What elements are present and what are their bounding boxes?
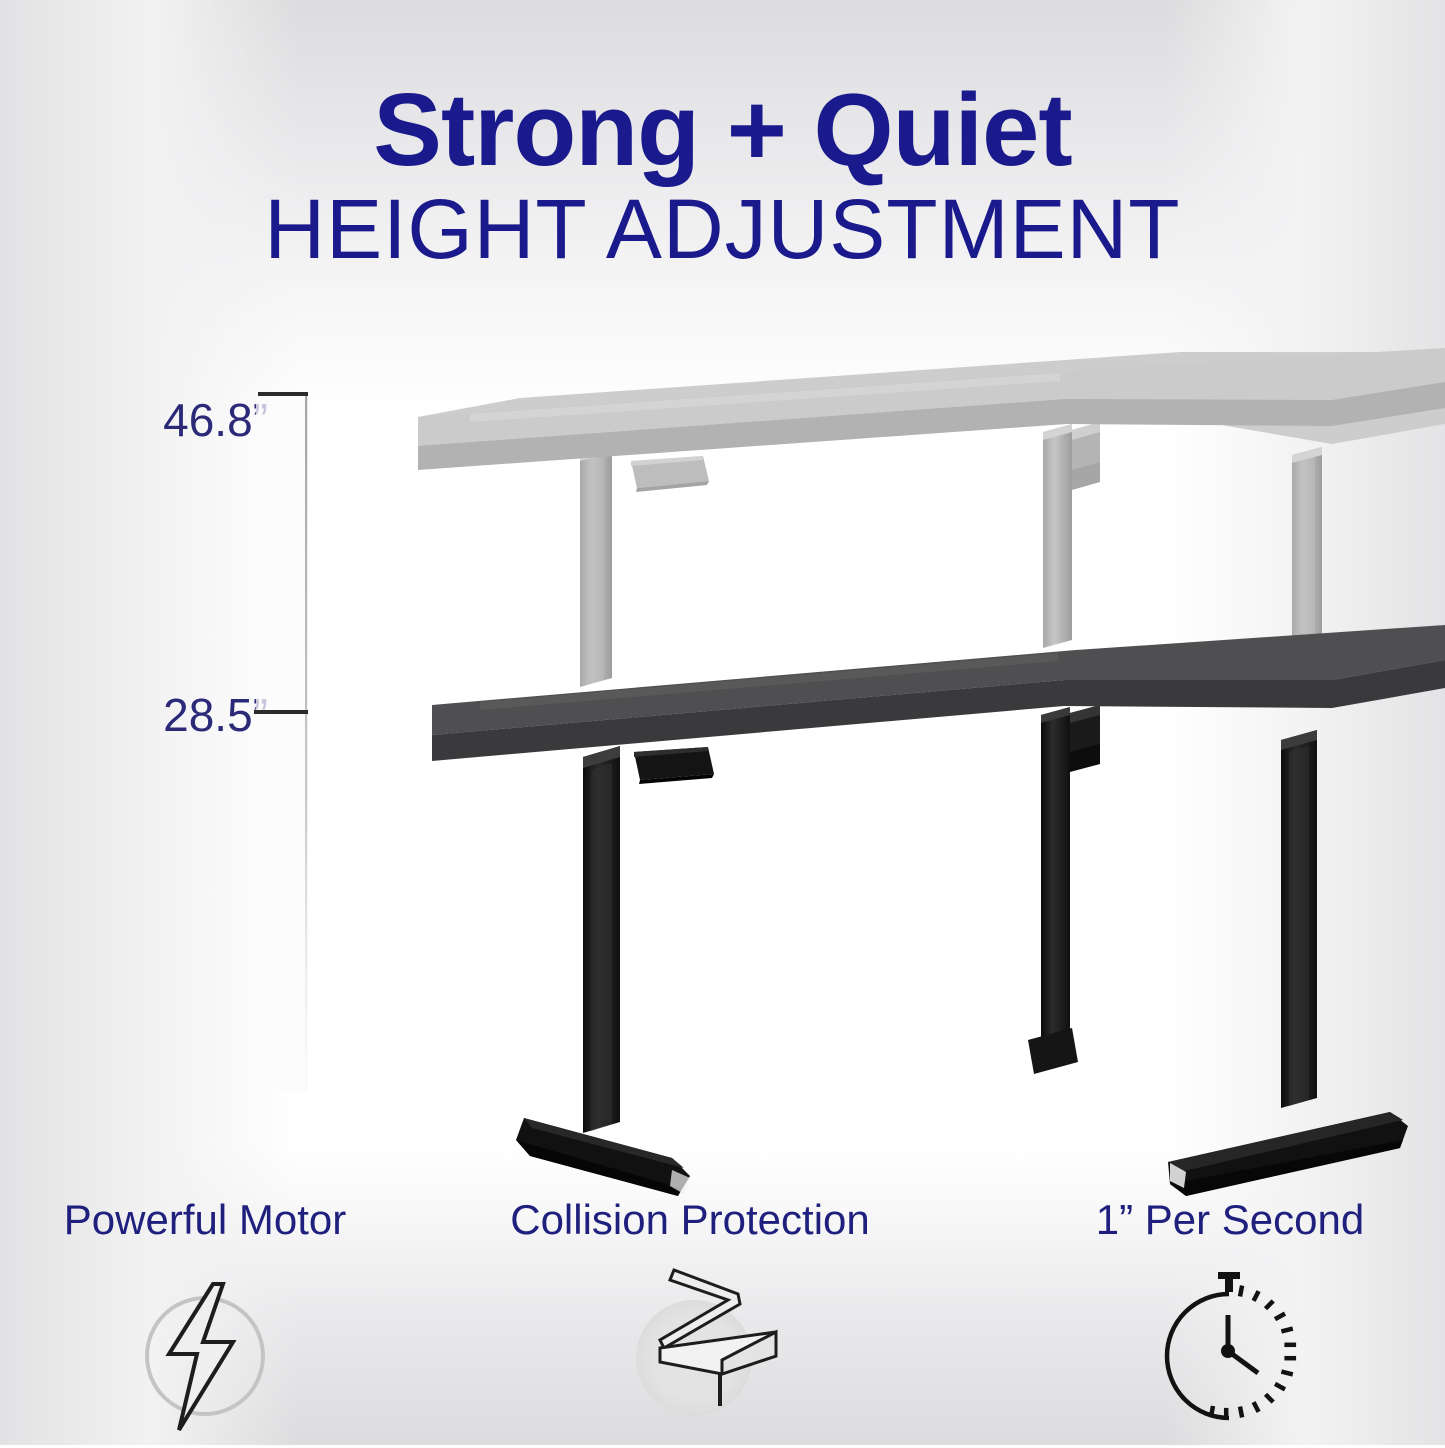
feature-label: Collision Protection [480,1196,900,1244]
desk-lowered-leg-right [1168,730,1408,1196]
page-title: Strong + Quiet HEIGHT ADJUSTMENT [0,78,1445,271]
desk-lowered-black [432,625,1445,1196]
feature-speed: 1” Per Second [1020,1196,1440,1448]
feature-label: 1” Per Second [1020,1196,1440,1244]
desk-raised-leg-left [580,443,612,687]
feature-collision-protection: Collision Protection [480,1196,900,1448]
stopwatch-icon [1130,1258,1330,1448]
headline-secondary: HEIGHT ADJUSTMENT [0,187,1445,271]
feature-powerful-motor: Powerful Motor [0,1196,415,1448]
collision-desktop-icon [590,1258,790,1448]
desk-raised-control-keypad [631,456,709,492]
desk-lowered-leg-corner [1028,705,1100,1074]
desk-lowered-control-keypad [634,747,714,784]
desk-lowered-leg-left [516,746,690,1196]
lightning-bolt-icon [105,1258,305,1448]
feature-label: Powerful Motor [0,1196,415,1244]
headline-primary: Strong + Quiet [0,78,1445,181]
desk-raised-leg-corner [1043,422,1100,648]
